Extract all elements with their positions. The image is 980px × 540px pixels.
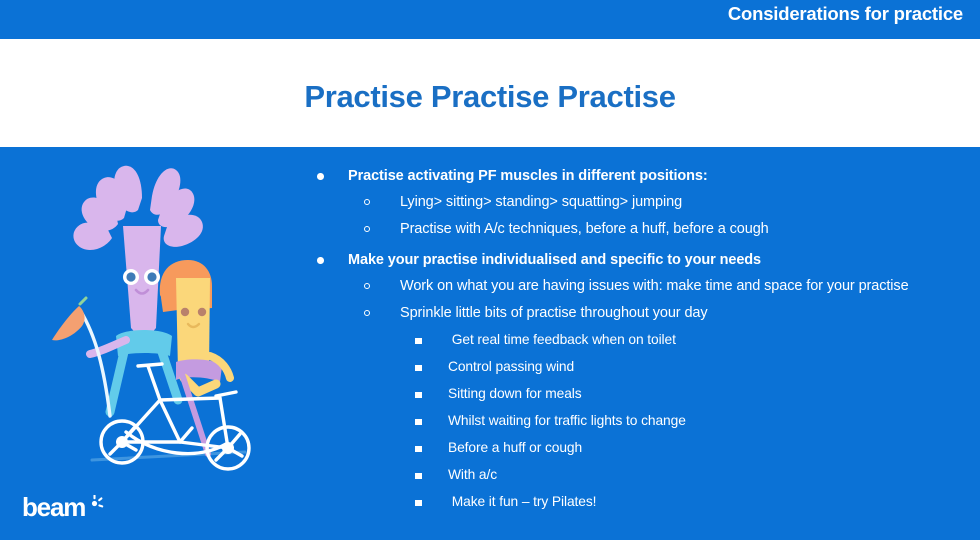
bullet-content: Practise activating PF muscles in differ… [305,163,905,518]
bullet-level2: Sprinkle little bits of practise through… [305,302,905,326]
bullet-text: Control passing wind [448,359,574,374]
bullet-level2: Practise with A/c techniques, before a h… [305,218,905,242]
bullet-text: Before a huff or cough [448,440,582,455]
page-title: Practise Practise Practise [0,79,980,115]
bullet-text: Practise activating PF muscles in differ… [348,168,708,184]
square-bullet-icon [415,473,422,480]
bullet-text: Make your practise individualised and sp… [348,252,761,268]
bullet-text: Get real time feedback when on toilet [448,332,676,347]
bullet-level3: Control passing wind [305,356,905,379]
illustration-tandem-bicycle [30,160,290,490]
square-bullet-icon [415,446,422,453]
bullet-text: Work on what you are having issues with:… [400,275,945,299]
bullet-text: Practise with A/c techniques, before a h… [400,218,905,242]
disc-bullet-icon [317,173,324,180]
bullet-level3: Make it fun – try Pilates! [305,491,905,514]
title-band: Practise Practise Practise [0,39,980,147]
bullet-text: Sitting down for meals [448,386,582,401]
square-bullet-icon [415,392,422,399]
bullet-level2: Lying> sitting> standing> squatting> jum… [305,191,905,215]
bullet-level3: Whilst waiting for traffic lights to cha… [305,410,905,433]
bullet-text: Whilst waiting for traffic lights to cha… [448,413,686,428]
bullet-level2: Work on what you are having issues with:… [305,275,945,299]
slide-canvas: Practise activating PF muscles in differ… [0,0,980,540]
square-bullet-icon [415,365,422,372]
disc-bullet-icon [317,257,324,264]
circle-bullet-icon [364,283,370,289]
bullet-level3: Before a huff or cough [305,437,905,460]
header-title: Considerations for practice [728,3,963,25]
square-bullet-icon [415,338,422,345]
bullet-level1: Make your practise individualised and sp… [305,247,905,273]
bullet-level3: With a/c [305,464,905,487]
bullet-text: With a/c [448,467,497,482]
circle-bullet-icon [364,226,370,232]
beam-logo: beam [22,494,104,520]
square-bullet-icon [415,419,422,426]
sparkle-icon [86,495,104,513]
circle-bullet-icon [364,199,370,205]
bullet-level1: Practise activating PF muscles in differ… [305,163,905,189]
bullet-level3: Get real time feedback when on toilet [305,329,905,352]
bullet-level3: Sitting down for meals [305,383,905,406]
header-band: Considerations for practice [0,0,980,39]
bullet-text: Make it fun – try Pilates! [448,494,596,509]
bullet-text: Lying> sitting> standing> squatting> jum… [400,191,905,215]
logo-wordmark: beam [22,494,85,520]
bullet-text: Sprinkle little bits of practise through… [400,302,905,326]
square-bullet-icon [415,500,422,507]
circle-bullet-icon [364,310,370,316]
